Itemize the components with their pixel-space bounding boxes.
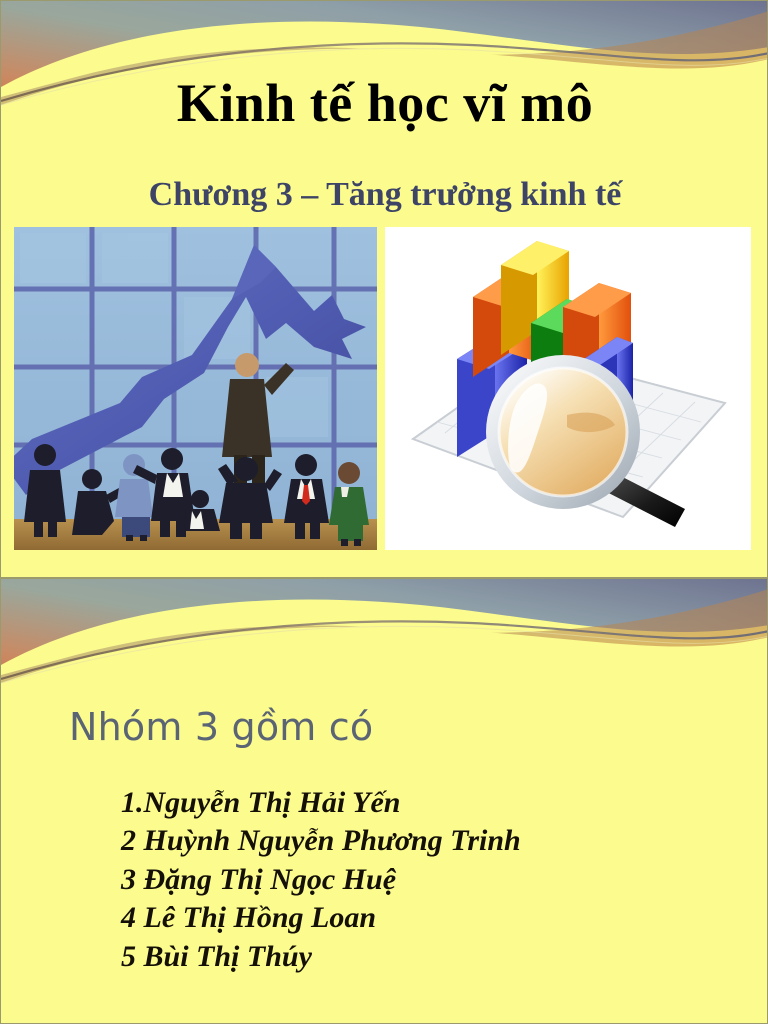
member-list: 1.Nguyễn Thị Hải Yến 2 Huỳnh Nguyễn Phươ… xyxy=(121,784,741,976)
slide-group-members: Nhóm 3 gồm có 1.Nguyễn Thị Hải Yến 2 Huỳ… xyxy=(0,578,768,1024)
list-item: 2 Huỳnh Nguyễn Phương Trinh xyxy=(121,822,741,860)
slide-subtitle: Chương 3 – Tăng trưởng kinh tế xyxy=(1,176,768,213)
page-title: Kinh tế học vĩ mô xyxy=(1,75,768,132)
decorative-swirl-band-top xyxy=(1,579,768,711)
list-item: 3 Đặng Thị Ngọc Huệ xyxy=(121,861,741,899)
slide-title: Kinh tế học vĩ mô Chương 3 – Tăng trưởng… xyxy=(0,0,768,578)
presentation-deck: Kinh tế học vĩ mô Chương 3 – Tăng trưởng… xyxy=(0,0,768,1024)
list-item: 4 Lê Thị Hồng Loan xyxy=(121,899,741,937)
list-item: 1.Nguyễn Thị Hải Yến xyxy=(121,784,741,822)
list-item: 5 Bùi Thị Thúy xyxy=(121,938,741,976)
business-team-lifting-growth-arrow-image xyxy=(14,227,377,550)
group-heading: Nhóm 3 gồm có xyxy=(69,705,709,749)
3d-bar-chart-with-magnifier-image xyxy=(385,227,751,550)
